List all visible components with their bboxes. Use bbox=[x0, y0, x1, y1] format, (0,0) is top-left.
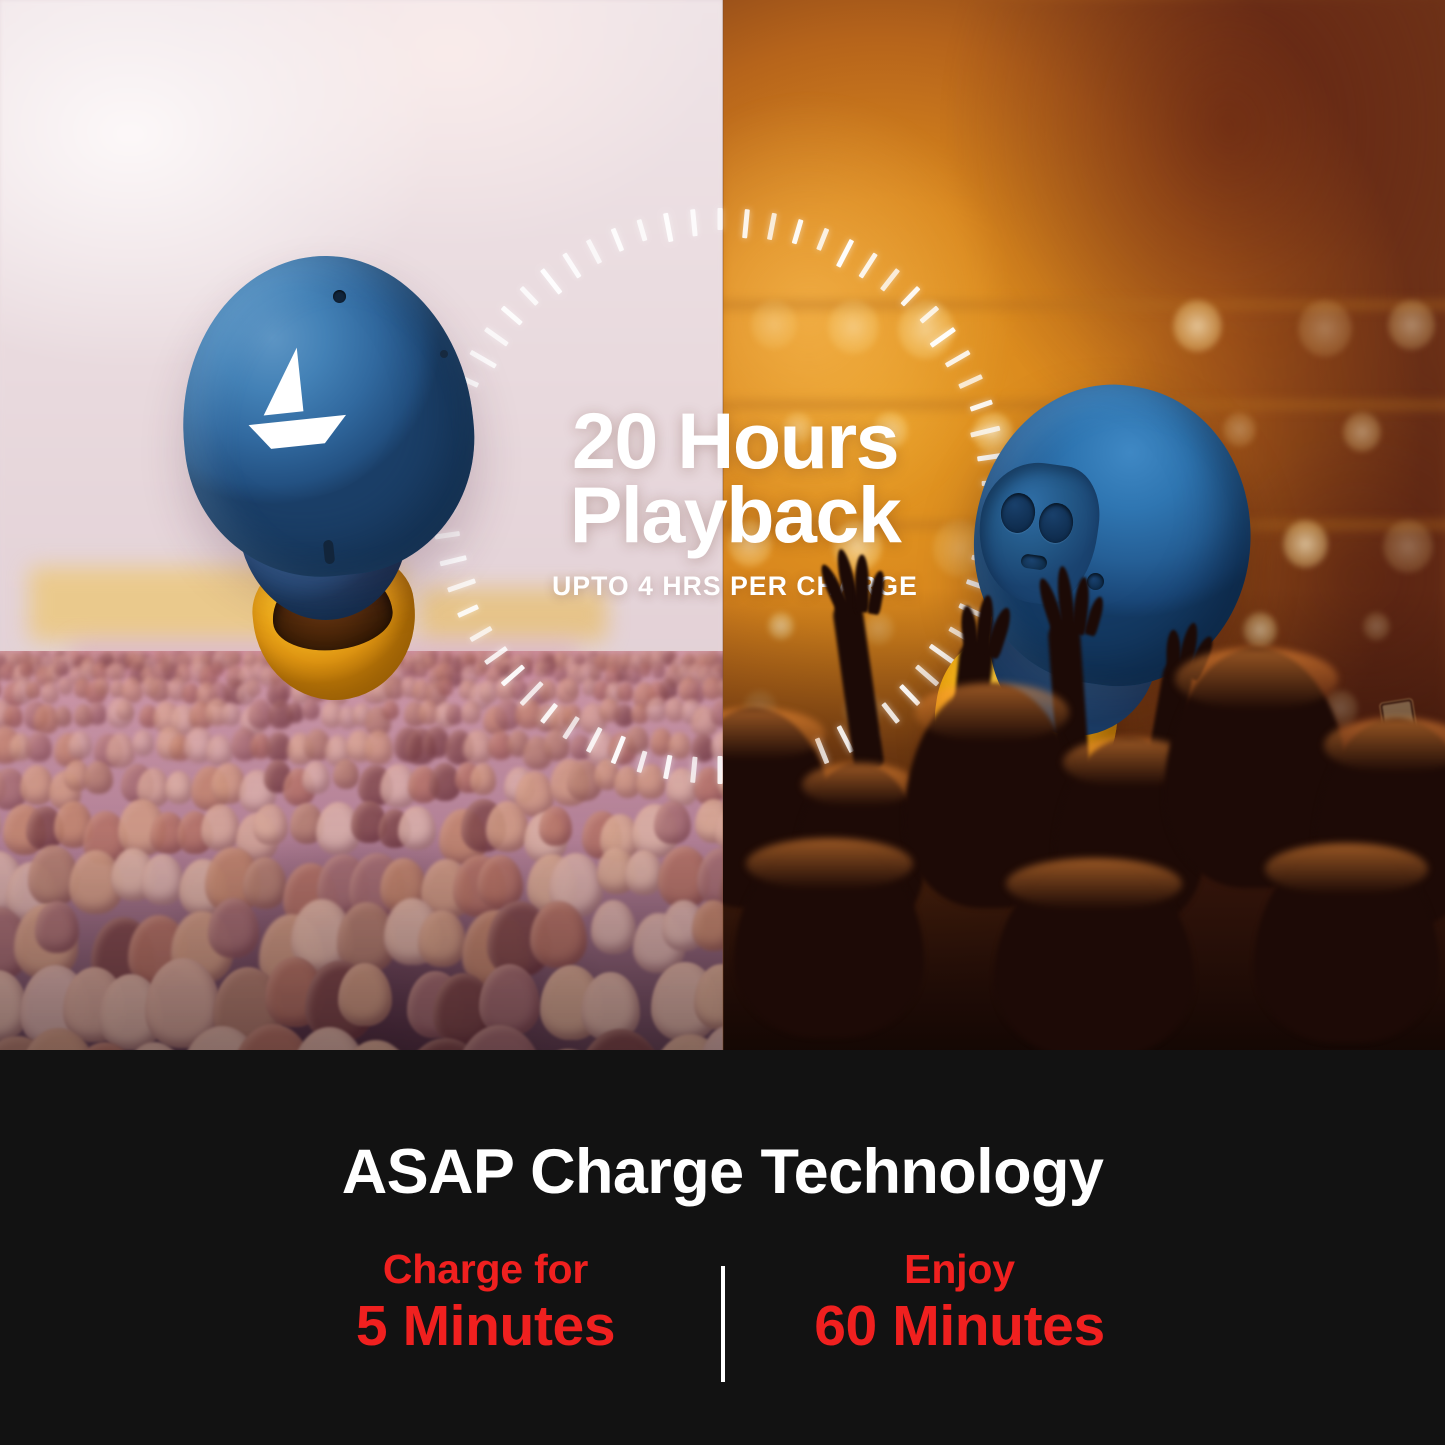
left-earbud-mic-hole bbox=[333, 290, 346, 303]
crowd-color-wash bbox=[0, 651, 723, 1050]
charge-column-right: Enjoy 60 Minutes bbox=[725, 1248, 1195, 1359]
left-crowd bbox=[0, 651, 723, 1050]
headline-subtext: UPTO 4 HRS PER CHARGE bbox=[500, 571, 970, 602]
earbud-left bbox=[168, 250, 498, 670]
stage-light-bokeh bbox=[1383, 520, 1433, 573]
crowd-silhouette bbox=[734, 838, 924, 1038]
hand-finger bbox=[855, 554, 869, 612]
boat-sailboat-logo-icon bbox=[235, 340, 357, 455]
crowd-silhouette bbox=[994, 858, 1194, 1050]
hero-image: 20 Hours Playback UPTO 4 HRS PER CHARGE bbox=[0, 0, 1445, 1050]
charge-right-label: Enjoy bbox=[725, 1248, 1195, 1291]
stage-light-bokeh bbox=[828, 300, 879, 354]
charge-right-value: 60 Minutes bbox=[725, 1295, 1195, 1359]
hero-headline-block: 20 Hours Playback UPTO 4 HRS PER CHARGE bbox=[500, 404, 970, 602]
panel-title: ASAP Charge Technology bbox=[0, 1136, 1445, 1208]
stage-light-bokeh bbox=[751, 300, 797, 349]
asap-charge-panel: ASAP Charge Technology Charge for 5 Minu… bbox=[0, 1050, 1445, 1445]
stage-light-bokeh bbox=[898, 300, 954, 359]
stage-light-bokeh bbox=[1173, 300, 1222, 352]
stage-light-bokeh bbox=[1283, 520, 1328, 568]
charge-column-left: Charge for 5 Minutes bbox=[251, 1248, 721, 1359]
product-feature-banner: 20 Hours Playback UPTO 4 HRS PER CHARGE … bbox=[0, 0, 1445, 1445]
stage-light-bokeh bbox=[1343, 412, 1381, 452]
stage-light-bokeh bbox=[1298, 300, 1352, 357]
charge-columns: Charge for 5 Minutes Enjoy 60 Minutes bbox=[0, 1248, 1445, 1408]
stage-light-bokeh bbox=[1388, 300, 1435, 350]
charge-left-value: 5 Minutes bbox=[251, 1295, 721, 1359]
right-earbud-mic-hole bbox=[1087, 573, 1104, 590]
crowd-silhouette bbox=[1254, 843, 1439, 1043]
headline-line-2: Playback bbox=[500, 478, 970, 552]
left-earbud-sensor-hole bbox=[440, 350, 448, 358]
headline-line-1: 20 Hours bbox=[500, 404, 970, 478]
charge-left-label: Charge for bbox=[251, 1248, 721, 1291]
